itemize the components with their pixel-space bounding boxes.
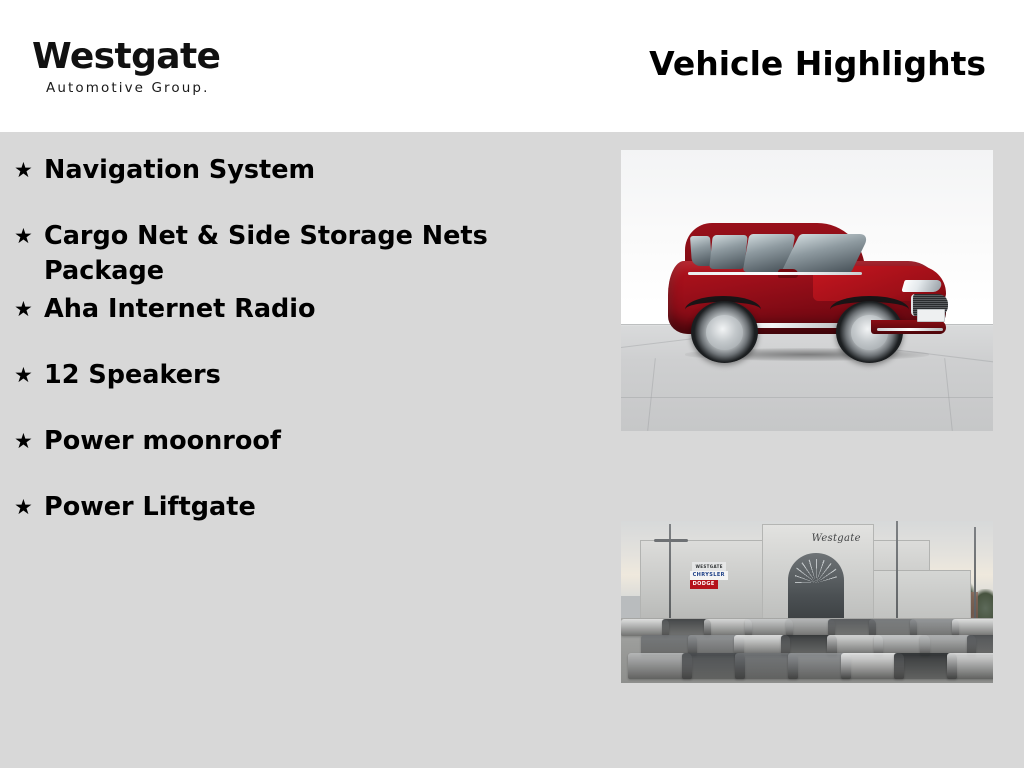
star-icon: ★ [10, 487, 44, 527]
chrome-trim [688, 272, 862, 275]
feature-label: Aha Internet Radio [44, 289, 612, 327]
feature-label: Power moonroof [44, 421, 612, 459]
light-fixture [654, 539, 687, 542]
dodge-sign: DODGE [690, 580, 718, 589]
star-icon: ★ [10, 289, 44, 329]
bottom-margin [0, 732, 1024, 768]
slide-header: Westgate Automotive Group. Vehicle Highl… [0, 0, 1024, 132]
westgate-logo: Westgate Automotive Group. [32, 38, 292, 96]
building-logo-text: Westgate [812, 533, 861, 544]
headlight [901, 280, 942, 292]
vehicle-photo [621, 150, 993, 431]
dealership-photo: WESTGATE CHRYSLER DODGE Jeep Ram Westgat… [621, 521, 993, 683]
light-pole [974, 527, 976, 618]
rear-wheel [691, 301, 758, 363]
feature-label: Cargo Net & Side Storage Nets Package [44, 216, 612, 289]
building-top-sign: WESTGATE [692, 562, 725, 571]
slide: Westgate Automotive Group. Vehicle Highl… [0, 0, 1024, 768]
building-right-wing [867, 570, 971, 625]
list-item: ★ Aha Internet Radio [0, 289, 612, 355]
star-icon: ★ [10, 355, 44, 395]
license-plate [917, 309, 945, 322]
star-icon: ★ [10, 216, 44, 256]
page-title: Vehicle Highlights [649, 44, 986, 84]
feature-label: Power Liftgate [44, 487, 612, 525]
bumper-chrome [877, 328, 944, 331]
suv-illustration [662, 220, 952, 355]
rear-window [709, 235, 747, 269]
floor-seam [621, 397, 993, 398]
slide-body: ★ Navigation System ★ Cargo Net & Side S… [0, 132, 1024, 768]
list-item: ★ Power Liftgate [0, 487, 612, 553]
feature-label: Navigation System [44, 150, 612, 188]
vehicle-highlights-list: ★ Navigation System ★ Cargo Net & Side S… [0, 150, 612, 553]
vehicle-lot [621, 618, 993, 683]
lot-vehicle [947, 653, 993, 679]
list-item: ★ Cargo Net & Side Storage Nets Package [0, 216, 612, 289]
logo-tagline: Automotive Group. [46, 80, 292, 96]
star-icon: ★ [10, 150, 44, 190]
front-bumper [871, 320, 946, 333]
logo-wordmark: Westgate [32, 38, 292, 76]
list-item: ★ 12 Speakers [0, 355, 612, 421]
chrysler-sign: CHRYSLER [690, 571, 728, 580]
entrance-arch [788, 553, 844, 624]
list-item: ★ Navigation System [0, 150, 612, 216]
star-icon: ★ [10, 421, 44, 461]
list-item: ★ Power moonroof [0, 421, 612, 487]
feature-label: 12 Speakers [44, 355, 612, 393]
lot-vehicle [952, 619, 993, 636]
